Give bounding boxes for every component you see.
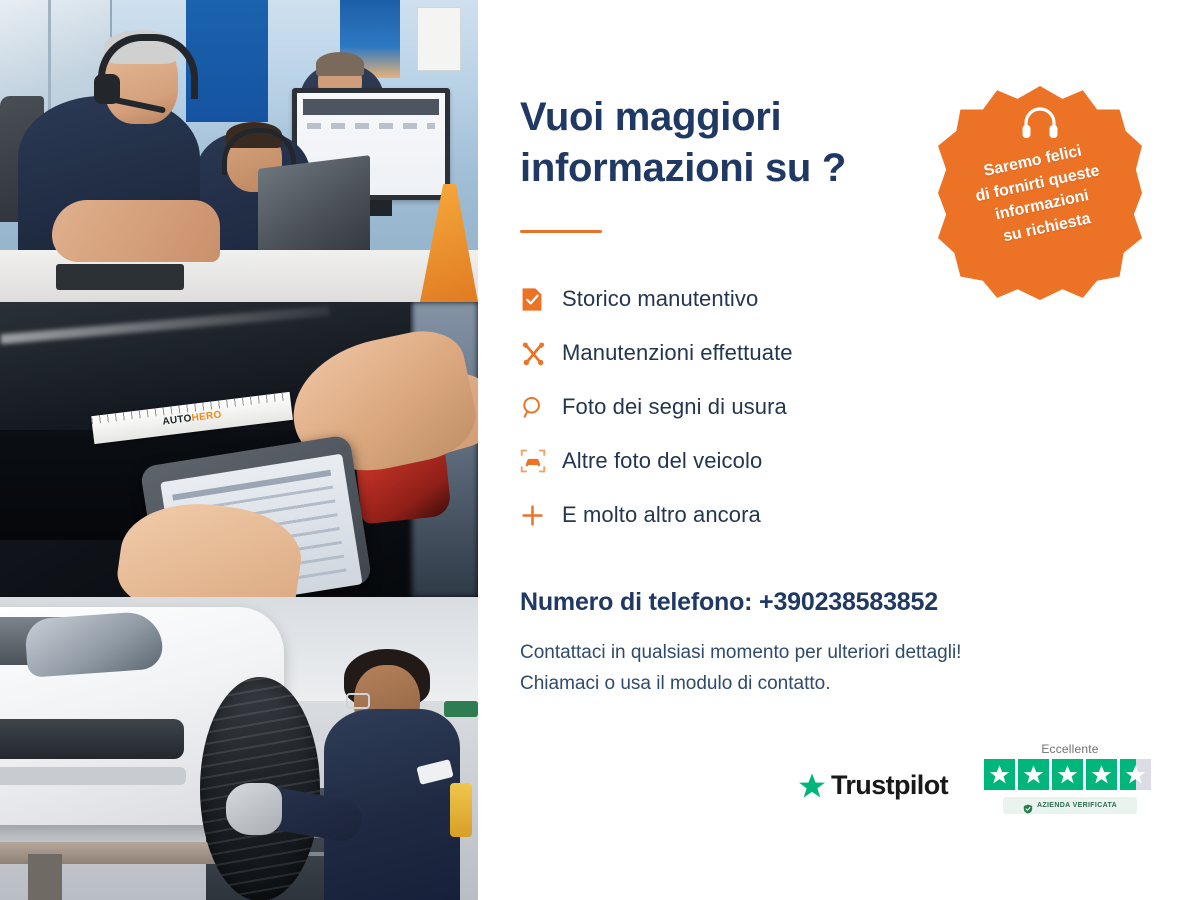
photo1-blue-panel: [186, 0, 268, 122]
photo1-keyboard: [56, 264, 184, 290]
callout-badge: Saremo felici di fornirti queste informa…: [930, 78, 1150, 308]
trustpilot-logo: Trustpilot: [798, 770, 948, 801]
photo3-green-object: [444, 701, 478, 717]
phone-subtext: Contattaci in qualsiasi momento per ulte…: [520, 638, 1160, 700]
content-column: Vuoi maggiori informazioni su ? Saremo f…: [478, 0, 1200, 900]
feature-item-foto-segni-usura: Foto dei segni di usura: [520, 380, 960, 434]
trustpilot-star-4: [1086, 759, 1117, 790]
verified-company-text: AZIENDA VERIFICATA: [1037, 802, 1117, 809]
feature-item-altre-foto-veicolo: Altre foto del veicolo: [520, 434, 960, 488]
trustpilot-rating-label: Eccellente: [984, 742, 1156, 756]
magnifier-icon: [520, 390, 562, 424]
headline-divider: [520, 230, 602, 233]
photo-column: AUTOHERO: [0, 0, 478, 900]
trustpilot-widget[interactable]: Trustpilot Eccellente: [798, 742, 1158, 852]
photo-technician-wheel-inspection: [0, 597, 478, 900]
trustpilot-star-5-half: [1120, 759, 1151, 790]
promo-banner: AUTOHERO: [0, 0, 1200, 900]
shield-check-icon: [1023, 801, 1033, 811]
trustpilot-wordmark: Trustpilot: [831, 770, 948, 801]
photo1-person-back-hair: [316, 52, 364, 76]
star-glyph: [1057, 764, 1078, 785]
headline-line-2: informazioni su ?: [520, 143, 940, 194]
feature-item-storico-manutentivo: Storico manutentivo: [520, 272, 960, 326]
feature-item-molto-altro: E molto altro ancora: [520, 488, 960, 542]
trustpilot-star-icon: [798, 772, 826, 800]
trustpilot-star-3: [1052, 759, 1083, 790]
star-glyph: [989, 764, 1010, 785]
star-glyph: [1023, 764, 1044, 785]
feature-label: Manutenzioni effettuate: [562, 340, 793, 366]
trustpilot-rating: Eccellente: [984, 742, 1156, 814]
photo3-technician-glasses: [346, 693, 370, 709]
trustpilot-stars: [984, 759, 1156, 790]
photo3-lift-post: [28, 854, 62, 900]
trustpilot-star-1: [984, 759, 1015, 790]
feature-list: Storico manutentivo Manutenzi: [520, 272, 960, 542]
headset-icon: [1018, 102, 1062, 146]
photo1-person-front-arm: [52, 200, 220, 262]
car-frame-icon: [520, 444, 562, 478]
document-check-icon: [520, 282, 562, 316]
photo1-wall-paper: [418, 8, 460, 70]
plus-icon: [520, 498, 562, 532]
page-title: Vuoi maggiori informazioni su ?: [520, 92, 940, 194]
phone-heading: Numero di telefono: +390238583852: [520, 588, 938, 617]
verified-company-badge: AZIENDA VERIFICATA: [1003, 797, 1137, 814]
trustpilot-star-2: [1018, 759, 1049, 790]
headline-line-1: Vuoi maggiori: [520, 92, 940, 143]
star-glyph: [1125, 764, 1146, 785]
photo3-yellow-object: [450, 783, 472, 837]
feature-label: Storico manutentivo: [562, 286, 758, 312]
tools-cross-icon: [520, 336, 562, 370]
feature-label: Foto dei segni di usura: [562, 394, 787, 420]
feature-item-manutenzioni-effettuate: Manutenzioni effettuate: [520, 326, 960, 380]
photo-autohero-measuring-tape: AUTOHERO: [0, 302, 478, 597]
photo3-technician-glove: [226, 783, 282, 835]
feature-label: E molto altro ancora: [562, 502, 761, 528]
star-glyph: [1091, 764, 1112, 785]
photo3-car-headlight: [24, 610, 164, 677]
feature-label: Altre foto del veicolo: [562, 448, 762, 474]
phone-subtext-line-2: Chiamaci o usa il modulo di contatto.: [520, 669, 1160, 700]
photo3-bumper-vent: [0, 719, 184, 759]
photo3-bumper-lip: [0, 767, 186, 785]
photo-call-center-agents: [0, 0, 478, 302]
phone-subtext-line-1: Contattaci in qualsiasi momento per ulte…: [520, 638, 1160, 669]
